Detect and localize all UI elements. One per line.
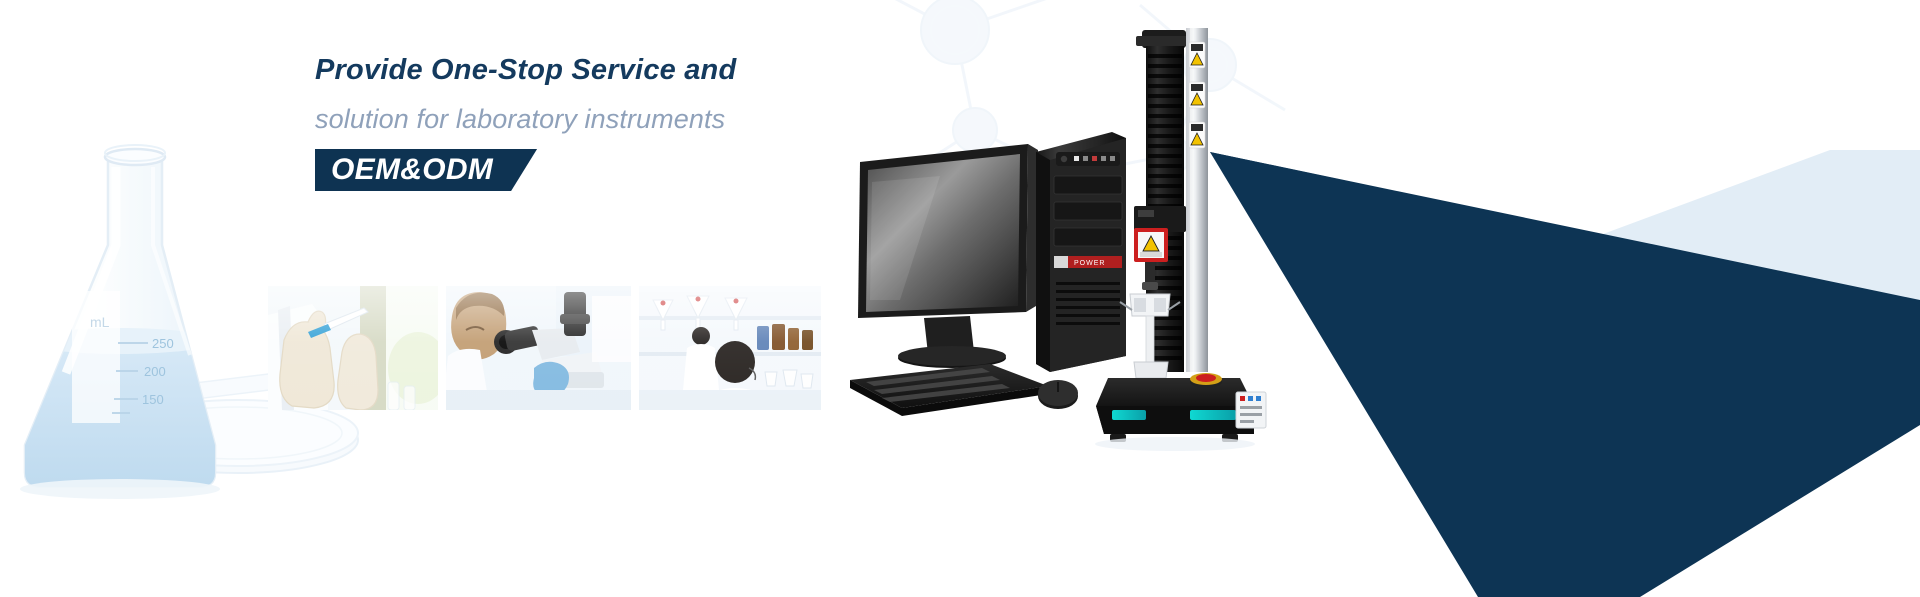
- graduation-200: 200: [144, 364, 166, 379]
- photo-wash-overlay: [446, 286, 631, 410]
- machine-base: [1095, 373, 1266, 451]
- pale-blue-triangle: [1560, 150, 1920, 360]
- photo-microscope: [446, 286, 631, 410]
- hero-banner: 250 200 150 mL Provide One-Stop Service …: [0, 0, 1920, 597]
- universal-tensile-testing-machine: [1090, 10, 1290, 460]
- lcd-monitor: [858, 144, 1038, 368]
- warning-label-group: [1189, 42, 1205, 148]
- computer-mouse: [1038, 380, 1078, 409]
- lab-photo-strip: [268, 286, 821, 410]
- unit-label-ml: mL: [90, 314, 110, 330]
- oem-odm-badge: OEM&ODM: [315, 149, 537, 191]
- oem-odm-badge-label: OEM&ODM: [331, 153, 493, 187]
- photo-pipetting: [268, 286, 438, 410]
- graduation-150: 150: [142, 392, 164, 407]
- photo-wash-overlay: [268, 286, 438, 410]
- photo-wash-overlay: [639, 286, 821, 410]
- oem-odm-badge-wrapper: OEM&ODM: [315, 149, 537, 191]
- graduation-250: 250: [152, 336, 174, 351]
- photo-lab-team: [639, 286, 821, 410]
- navy-arrow-triangle: [1210, 152, 1920, 420]
- erlenmeyer-flask: 250 200 150 mL: [10, 145, 230, 501]
- computer-keyboard: [850, 364, 1048, 416]
